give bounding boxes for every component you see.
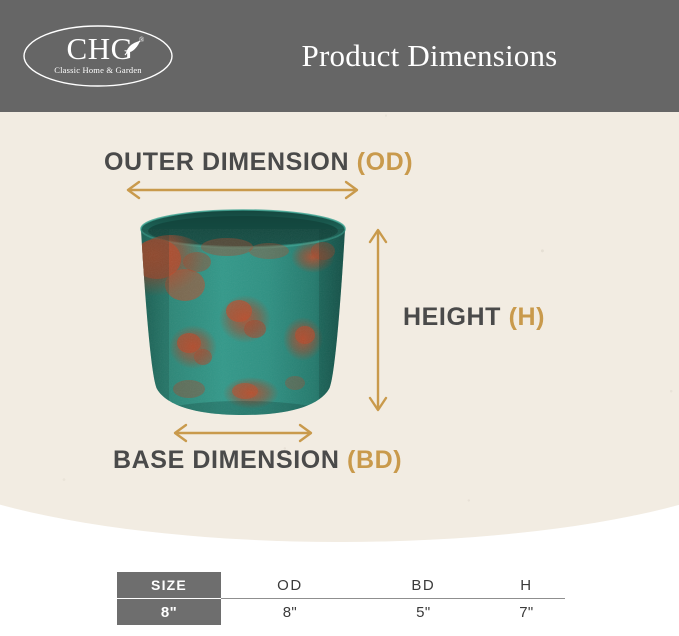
cell-h-value: 7"	[488, 599, 565, 625]
brand-logo: CHG ® Classic Home & Garden	[22, 24, 174, 88]
table-row: 8" 8" 5" 7"	[117, 599, 565, 625]
base-dimension-arrow	[167, 421, 319, 445]
outer-dimension-label-text: OUTER DIMENSION	[104, 148, 349, 176]
base-dimension-label: BASE DIMENSION (BD)	[113, 446, 402, 475]
column-header-bd: BD	[359, 572, 488, 598]
height-label-text: HEIGHT	[403, 303, 501, 331]
page-title: Product Dimensions	[200, 0, 679, 112]
cell-size-value: 8"	[117, 599, 221, 625]
column-header-od: OD	[221, 572, 359, 598]
column-header-size: SIZE	[117, 572, 221, 598]
height-code: (H)	[509, 303, 546, 331]
registered-trademark-mark: ®	[139, 36, 144, 44]
cell-od-value: 8"	[221, 599, 359, 625]
logo-initials: CHG	[22, 33, 174, 64]
logo-tagline: Classic Home & Garden	[22, 66, 174, 75]
outer-dimension-arrow	[120, 178, 365, 202]
table-header-row: SIZE OD BD H	[117, 572, 565, 598]
cell-bd-value: 5"	[359, 599, 488, 625]
base-dimension-code: (BD)	[347, 446, 402, 474]
height-label: HEIGHT (H)	[403, 303, 545, 332]
base-dimension-label-text: BASE DIMENSION	[113, 446, 339, 474]
specification-table: SIZE OD BD H 8" 8" 5" 7"	[117, 572, 565, 625]
column-header-h: H	[488, 572, 565, 598]
outer-dimension-code: (OD)	[357, 148, 414, 176]
header-bar: CHG ® Classic Home & Garden Product Dime…	[0, 0, 679, 112]
planter-pot-illustration	[127, 207, 360, 425]
outer-dimension-label: OUTER DIMENSION (OD)	[104, 148, 413, 177]
height-arrow	[365, 222, 391, 418]
